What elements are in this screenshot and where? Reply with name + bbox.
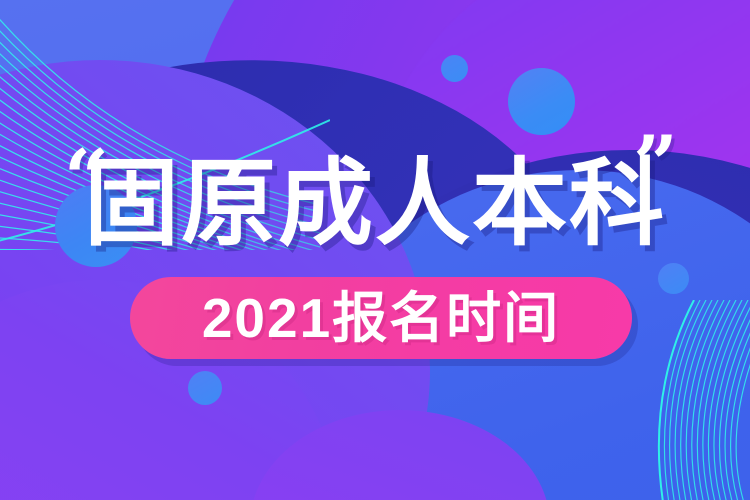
circle-right-of-badge [658, 263, 689, 294]
page-title: 固原成人本科 [0, 152, 750, 257]
circle-large-top [508, 68, 575, 135]
badge-pill: 2021报名时间 [130, 277, 632, 359]
circle-small-top [441, 55, 468, 82]
promo-banner: “ ” 固原成人本科 2021报名时间 [0, 0, 750, 500]
circle-below-badge-left [188, 371, 222, 405]
badge-label: 2021报名时间 [202, 291, 560, 346]
